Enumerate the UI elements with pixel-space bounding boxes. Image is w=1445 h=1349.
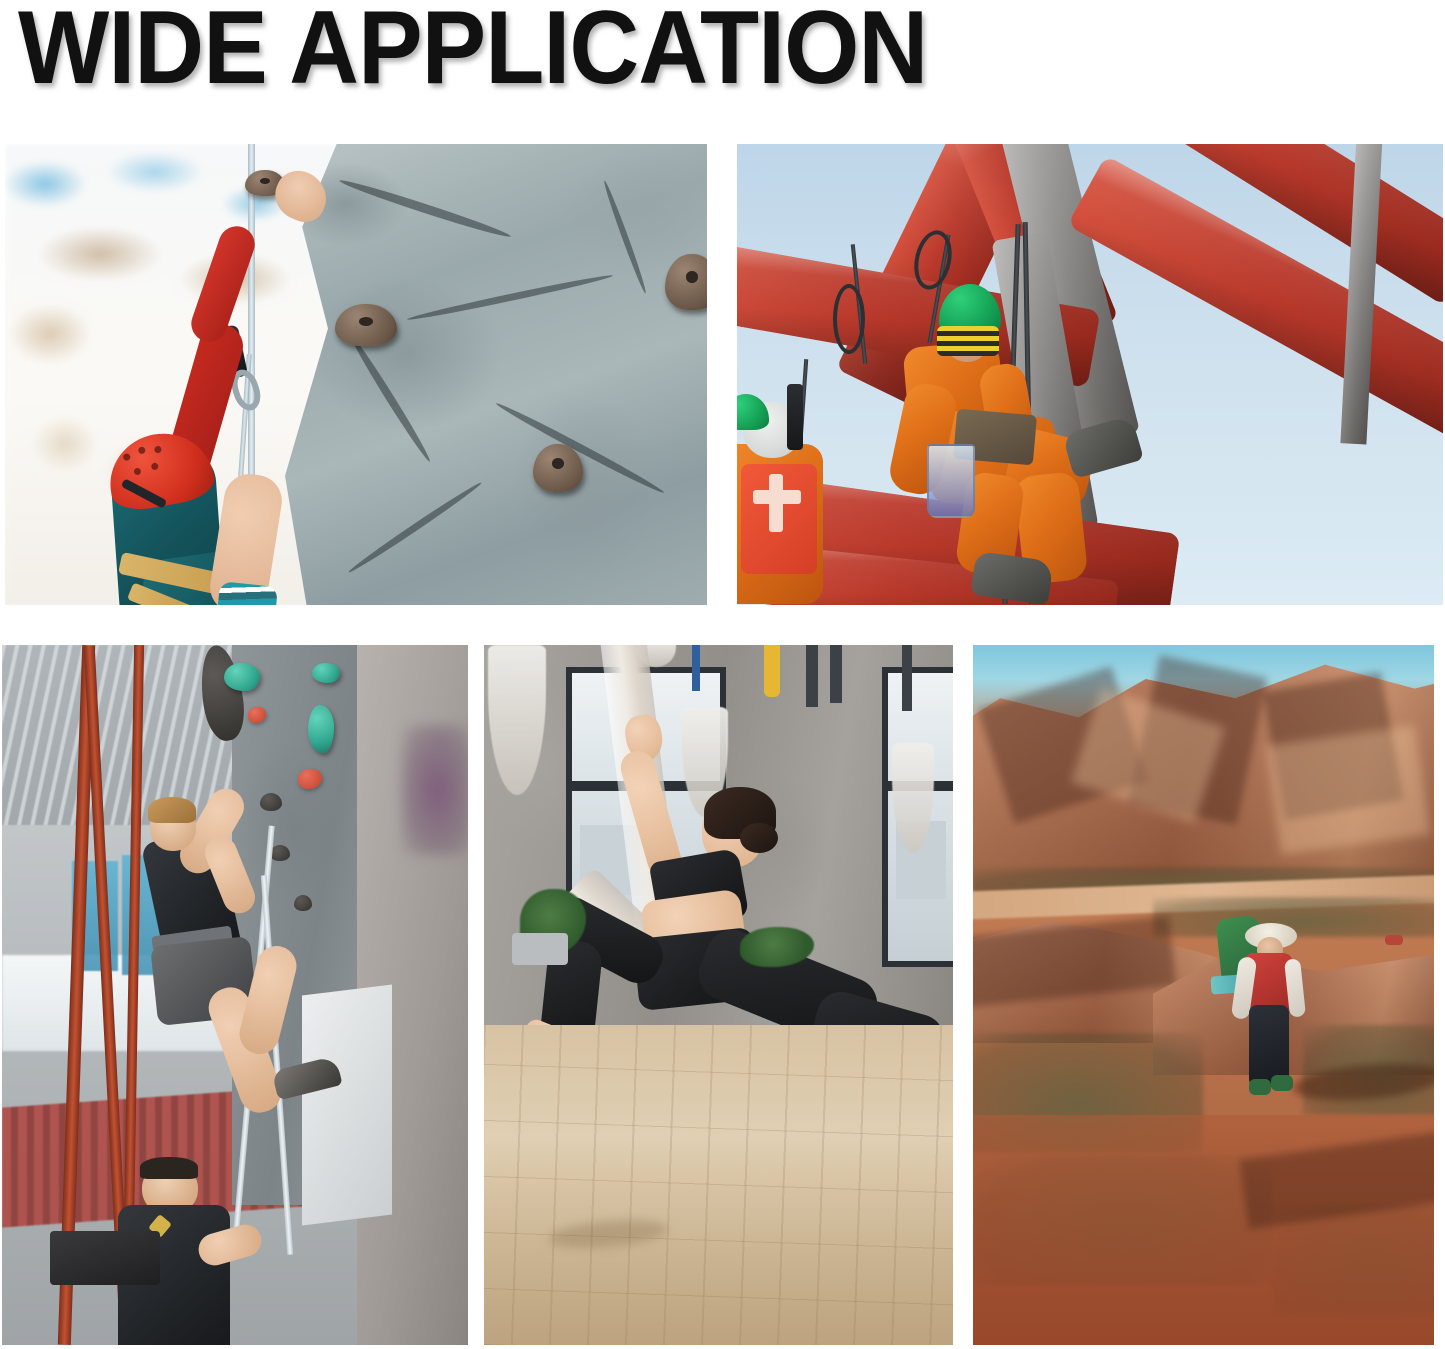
gallery-tile-aerial-yoga[interactable]: Aerial Yoga [484,645,953,1345]
planter [512,933,568,965]
radio-antenna [787,384,803,450]
climbing-hold [294,895,312,911]
climbing-hold [308,705,334,753]
yogi-hair-bun [740,823,778,853]
climber-hair [148,797,196,823]
ceiling-strap [830,645,842,703]
photo-aerial-yoga-studio [484,645,953,1345]
climbing-wall-panel [302,984,392,1225]
gallery-tile-indoor-climbing[interactable]: Indoor rock climbing [2,645,468,1345]
climbing-hold [270,845,290,861]
photo-rope-access-work [737,144,1443,605]
gallery-tile-hiking[interactable]: Hiking [973,645,1434,1345]
climbing-hold [260,793,282,811]
infographic-page: WIDE APPLICATION [0,0,1445,1349]
wood-floor [484,1025,953,1345]
neck-protector [937,326,999,356]
ridge-highlight [1266,725,1430,855]
foreground-blur [402,725,468,855]
crash-pad [50,1231,160,1285]
ceiling-strap [764,645,780,697]
green-hard-hat [737,394,769,430]
distant-hiker [1385,935,1403,945]
page-title: WIDE APPLICATION [18,0,927,100]
climbing-hold [312,663,340,683]
belayer-hair [140,1157,198,1179]
rock-wall [285,144,707,605]
paint-bucket [927,444,975,518]
rock-hold [335,304,397,346]
photo-outdoor-climbing [5,144,707,605]
hiking-boot [1271,1075,1293,1091]
gallery-tile-climbing[interactable]: Climbing [5,144,707,605]
gallery-tile-protect[interactable]: Protect [737,144,1443,605]
ceiling-strap [902,645,912,711]
photo-indoor-climbing-gym [2,645,468,1345]
ceiling-anchor [692,645,700,691]
vest-stripe [769,474,783,532]
photo-desert-hiking [973,645,1434,1345]
rope-loop [833,284,865,354]
ceiling-strap [806,645,818,707]
rock-hold [533,444,583,492]
climbing-hold [224,663,260,691]
hiking-boot [1249,1079,1271,1095]
